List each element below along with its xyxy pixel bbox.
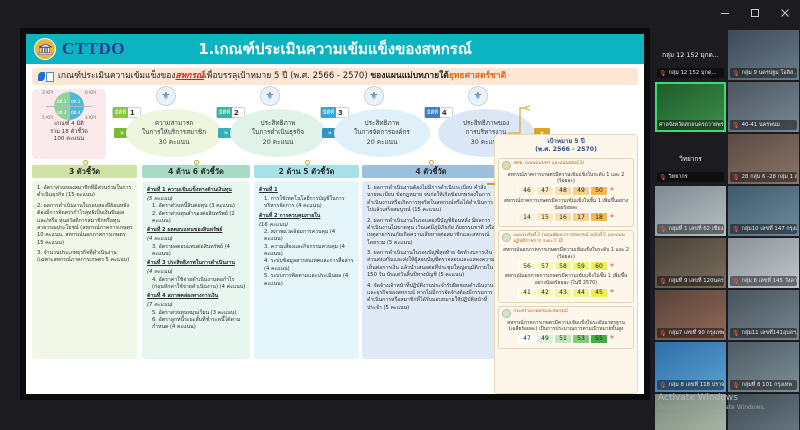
target-owner-label: สศช. (แผนแม่บทฯ และแผนย่อย13): [513, 161, 584, 167]
participant-tile[interactable]: วิทยากร🎙วิทยากร: [655, 134, 726, 184]
screen-share-stage: CTTDO 1.เกณฑ์ประเมินความเข้มแข็งของสหกรณ…: [20, 28, 650, 400]
criteria-column-2: ด้านที่ 1 ความเข้มแข็งทางด้านเงินทุน (5 …: [142, 181, 250, 359]
column-header-2: 4 ด้าน 6 ตัวชี้วัด: [142, 165, 250, 178]
criteria-column-4: 1. ผลการดำเนินงานต้องไม่มีการดำเนินระเบี…: [362, 181, 500, 359]
target-value-cell: 56: [518, 261, 536, 271]
dimension-line-1: ประสิทธิภาพ: [365, 119, 400, 128]
criteria-column-1: 1. อัตราส่วนของสมาชิกที่มีส่วนร่วมในการด…: [32, 181, 137, 359]
dimension-number: 4: [440, 109, 449, 117]
target-text-2: สหกรณ์ภาคการเกษตรมีความเข้มแข็งในชั้น 1 …: [502, 198, 630, 211]
dimension-number: 3: [336, 109, 345, 117]
kpi-label-bottom-left: 5 KPI: [42, 116, 53, 121]
kpi-label-top-right: 6 KPI: [85, 91, 96, 96]
participant-name-text: วิทยากร: [669, 173, 688, 181]
target-title-line-2: (พ.ศ. 2566 - 2570): [498, 146, 634, 154]
target-value-cell: 16: [554, 212, 572, 222]
target-panel: เป้าหมาย 5 ปี (พ.ศ. 2566 - 2570) สศช. (แ…: [494, 134, 638, 394]
target-value-cell: 15: [536, 212, 554, 222]
dimension-tag-3: มิติที่3: [320, 107, 349, 118]
kpi-quadrant-diagram: 3 KPI 6 KPI 5 KPI 4 KPI มิติ 1 มิติ 2 มิ…: [42, 91, 96, 121]
criteria-item: 1. อัตราส่วนของสมาชิกที่มีส่วนร่วมในการด…: [37, 185, 133, 200]
participant-name-badge: 🎙28 กลุ่ม 6 -28 กลุ่ม 1 ลพ...: [730, 172, 797, 182]
participant-tile[interactable]: ศาลจังหวัดสกลนครถวายพระพ...: [655, 82, 726, 132]
muted-mic-icon: 🎙: [732, 226, 740, 233]
dimension-line-2: ในการดำเนินธุรกิจ: [252, 128, 304, 137]
target-value-cell: 51: [554, 334, 572, 344]
dimension-tag-2: มิติที่2: [216, 107, 245, 118]
criteria-item: 4. ระบบข้อมูลสารสนเทศและการสื่อสาร (4 คะ…: [259, 258, 355, 273]
dimension-score: 20 คะแนน: [263, 138, 294, 147]
criteria-item: 1. ผลการดำเนินงานต้องไม่มีการดำเนินระเบี…: [367, 185, 496, 215]
target-title-line-1: เป้าหมาย 5 ปี: [498, 138, 634, 146]
moac-logo-icon: [502, 309, 511, 318]
criteria-item: 5. อัตราส่วนทุนหมุนเวียน (3 คะแนน): [147, 310, 246, 317]
subtitle-pre: เกณฑ์ประเมินความเข้มแข็งของ: [58, 71, 176, 81]
target-value-row-2: 4142434445*: [502, 288, 630, 298]
kpi-quadrant-2: มิติ 2: [71, 98, 80, 105]
participant-tile[interactable]: 🎙กลุ่ม7 เลขที่ 90 กรุงเทพฯ: [655, 290, 726, 340]
kpi-quadrant-4: มิติ 4: [71, 109, 80, 116]
target-value-cell: 49: [536, 334, 554, 344]
target-box-1: สศช. (แผนแม่บทฯ และแผนย่อย13)สหกรณ์ภาคกา…: [498, 158, 634, 227]
target-value-cell: 48: [554, 186, 572, 196]
participant-name-badge: ศาลจังหวัดสกลนครถวายพระพ...: [657, 120, 724, 130]
kpi-summary-card: 3 KPI 6 KPI 5 KPI 4 KPI มิติ 1 มิติ 2 มิ…: [32, 89, 106, 159]
dimension-bubble-2: ประสิทธิภาพในการดำเนินธุรกิจ20 คะแนน: [230, 109, 326, 157]
target-box-2: แผนระดับที่ 3 (แผนพัฒนาการสหกรณ์ ฉบับที่…: [498, 230, 634, 302]
dimension-line-1: ประสิทธิภาพของ: [463, 119, 509, 128]
participant-name-badge: 🎙กลุ่ม 9 นครปฐม โอลิส ...: [730, 68, 797, 78]
participant-name-text: กลุ่ม11 เลขที่141อุบลฯ,...: [742, 329, 797, 337]
dimension-number: 2: [232, 109, 241, 117]
participant-tile[interactable]: 🎙กลุ่ม 9 นครปฐม โอลิส ...: [728, 30, 799, 80]
garuda-emblem-icon: ⚜: [260, 86, 280, 106]
muted-mic-icon: 🎙: [732, 382, 740, 389]
window-titlebar: [0, 0, 800, 26]
close-icon[interactable]: [770, 2, 800, 24]
criteria-item: 3. อัตราผลตอบแทนต่อสินทรัพย์ (4 คะแนน): [147, 244, 246, 259]
target-value-cell: 18: [590, 212, 608, 222]
target-value-cell: 58: [554, 261, 572, 271]
participant-tile[interactable]: กลุ่ม 12 152 มุกด...🎙กลุ่ม 12 152 มุกด..…: [655, 30, 726, 80]
target-star-marker: *: [610, 262, 614, 271]
criteria-section-head: ด้านที่ 1 ความเข้มแข็งทางด้านเงินทุน: [147, 187, 246, 194]
garuda-emblem-icon: ⚜: [156, 86, 176, 106]
participant-name-badge: 🎙กลุ่ม 8 เลขที่ 118 ปราจ...: [657, 380, 724, 390]
target-value-row-1: 4749515355*: [502, 334, 630, 344]
muted-mic-icon: 🎙: [659, 70, 667, 77]
target-owner-row: แผนระดับที่ 3 (แผนพัฒนาการสหกรณ์ ฉบับที่…: [502, 233, 630, 245]
target-owner-row: กระทรวงเกษตรและสหกรณ์: [502, 309, 630, 318]
criteria-item: 2. ผลการดำเนินงานในรอบสองปีย้อนหลัง ต้อง…: [37, 203, 133, 247]
participant-tile[interactable]: 🎙28 กลุ่ม 6 -28 กลุ่ม 1 ลพ...: [728, 134, 799, 184]
kpi-label-top-left: 3 KPI: [42, 91, 53, 96]
target-text-1: สหกรณ์ภาคการเกษตรมีความเข้มแข็งในระดับ 1…: [502, 172, 630, 185]
target-value-row-2: 1415161718*: [502, 212, 630, 222]
minimize-icon[interactable]: [710, 2, 740, 24]
column-connector-node-1: [83, 160, 88, 165]
dimension-tag-1: มิติที่1: [112, 107, 141, 118]
target-value-cell: 55: [590, 334, 608, 344]
participant-name-badge: 🎙กลุ่มที่ 1 เลขที่ 62 เชียง...: [657, 224, 724, 234]
dimension-line-2: ในการจัดการองค์กร: [354, 128, 410, 137]
muted-mic-icon: 🎙: [732, 278, 740, 285]
kpi-summary-line-3: 100 คะแนน: [54, 136, 84, 144]
target-value-cell: 17: [572, 212, 590, 222]
dimension-line-1: ประสิทธิภาพ: [261, 119, 296, 128]
column-header-3: 2 ด้าน 5 ตัวชี้วัด: [254, 165, 359, 178]
participant-tile[interactable]: 🎙กลุ่ม11 เลขที่141อุบลฯ,...: [728, 290, 799, 340]
slide-header: CTTDO 1.เกณฑ์ประเมินความเข้มแข็งของสหกรณ…: [26, 34, 644, 64]
target-value-cell: 60: [590, 261, 608, 271]
participant-name-text: 40-41 นครพนม: [742, 121, 780, 129]
muted-mic-icon: 🎙: [732, 70, 740, 77]
criteria-section-score: (4 คะแนน): [147, 236, 246, 243]
column-header-4: 4 ตัวชี้วัด: [362, 165, 500, 178]
participant-name-text: กลุ่มที่ 9 เลขที่ 120นครปฐม: [669, 277, 724, 285]
dimension-score: 30 คะแนน: [159, 138, 190, 147]
participant-name-badge: 🎙กลุ่ม10 เลขที่ 147 กรุงเทพฯ: [730, 224, 797, 234]
participant-tile[interactable]: 🎙40-41 นครพนม: [728, 82, 799, 132]
participant-name-badge: 🎙40-41 นครพนม: [730, 120, 797, 130]
column-connector-node-2: [194, 160, 199, 165]
target-value-row-1: 4647484950*: [502, 186, 630, 196]
target-value-cell: 57: [536, 261, 554, 271]
target-value-row-1: 5657585960*: [502, 261, 630, 271]
criteria-section-score: (4 คะแนน): [147, 269, 246, 276]
kpi-summary-line-1: เกณฑ์ 4 มิติ: [54, 121, 84, 129]
brand-label: CTTDO: [62, 39, 125, 59]
participant-name-text: กลุ่มที่ 1 เลขที่ 62 เชียง...: [669, 225, 724, 233]
target-value-cell: 47: [518, 334, 536, 344]
dimension-card-1: ⚜มิติที่1»ความสามารถในการให้บริการสมาชิก…: [118, 87, 222, 161]
dimension-tag-label: มิติที่: [425, 107, 440, 118]
nesdc-logo-icon: [502, 161, 511, 170]
target-value-cell: 44: [572, 288, 590, 298]
participant-name-badge: 🎙วิทยากร: [657, 172, 724, 182]
slide-subtitle-bar: เกณฑ์ประเมินความเข้มแข็งของสหกรณ์เพื่อบร…: [32, 68, 638, 85]
criteria-column-3: ด้านที่ 11. การใช้เทคโนโลยีการบัญชีในการ…: [254, 181, 359, 359]
criteria-section-score: (16 คะแนน): [259, 222, 355, 229]
column-header-1: 3 ตัวชี้วัด: [32, 165, 137, 178]
participant-name-badge: 🎙กลุ่มที่ 9 เลขที่ 120นครปฐม: [657, 276, 724, 286]
criteria-item: 4. จัดจ้างเจ้าหน้าที่ปฏิบัติงานประจำรับผ…: [367, 283, 496, 313]
muted-mic-icon: 🎙: [732, 330, 740, 337]
target-value-cell: 53: [572, 334, 590, 344]
participant-rail[interactable]: กลุ่ม 12 152 มุกด...🎙กลุ่ม 12 152 มุกด..…: [652, 26, 800, 430]
criteria-item: 1. การใช้เทคโนโลยีการบัญชีในการบริหารจัด…: [259, 196, 355, 211]
dimension-line-2: ในการให้บริการสมาชิก: [142, 128, 206, 137]
target-value-cell: 41: [518, 288, 536, 298]
participant-name-text: กลุ่ม 8 เลขที่ 145 วังคาม...: [742, 277, 797, 285]
target-owner-label: แผนระดับที่ 3 (แผนพัฒนาการสหกรณ์ ฉบับที่…: [513, 233, 630, 245]
watermark-subtitle: Go to Settings to activate Windows.: [658, 404, 798, 411]
dimension-tag-label: มิติที่: [217, 107, 232, 118]
cooperative-logo-icon: [502, 233, 511, 242]
participant-name-text: กลุ่มที่ 8 101 กรุงเทพ: [742, 381, 792, 389]
participant-name-badge: 🎙กลุ่ม 12 152 มุกด...: [657, 68, 724, 78]
dimension-tag-4: มิติที่4: [424, 107, 453, 118]
target-owner-label: กระทรวงเกษตรและสหกรณ์: [513, 309, 567, 315]
participant-display-name: กลุ่ม 12 152 มุกด...: [655, 50, 726, 60]
criteria-item: 2. ผลการดำเนินงานในรอบสองปีบัญชีย้อนหลัง…: [367, 218, 496, 248]
criteria-section-head: ด้านที่ 2 การควบคุมภายใน: [259, 213, 355, 220]
criteria-item: 3. จำนวนประเภทธุรกิจที่ดำเนินงาน (เฉพาะส…: [37, 250, 133, 265]
garuda-emblem-icon: ⚜: [364, 86, 384, 106]
muted-mic-icon: 🎙: [732, 122, 740, 129]
dimension-number: 1: [128, 109, 137, 117]
dimension-bubble-1: ความสามารถในการให้บริการสมาชิก30 คะแนน: [126, 109, 222, 157]
target-star-marker: *: [610, 334, 614, 343]
muted-mic-icon: 🎙: [659, 226, 667, 233]
participant-tile[interactable]: 🎙กลุ่ม 8 เลขที่ 145 วังคาม...: [728, 238, 799, 288]
target-star-marker: *: [610, 288, 614, 297]
participant-name-badge: 🎙กลุ่ม11 เลขที่141อุบลฯ,...: [730, 328, 797, 338]
criteria-item: 1. อัตราส่วนหนี้สินต่อทุน (3 คะแนน): [147, 203, 246, 210]
target-text-1: สหกรณ์นอกภาคการเกษตรมีความเข้มแข็งในระดั…: [502, 247, 630, 260]
kpi-quadrant-1: มิติ 1: [57, 98, 66, 105]
subtitle-accent: ยุทธศาสตร์ชาติ: [449, 71, 506, 81]
participant-tile[interactable]: 🎙กลุ่มที่ 1 เลขที่ 62 เชียง...: [655, 186, 726, 236]
presentation-slide: CTTDO 1.เกณฑ์ประเมินความเข้มแข็งของสหกรณ…: [26, 34, 644, 394]
subtitle-highlight: สหกรณ์: [176, 71, 204, 81]
dimension-line-1: ความสามารถ: [155, 119, 193, 128]
criteria-item: 3. ความเสี่ยงและกิจกรรมควบคุม (4 คะแนน): [259, 244, 355, 259]
subtitle-bold: ของแผนแม่บทภายใต้: [370, 71, 448, 81]
maximize-icon[interactable]: [740, 2, 770, 24]
kpi-label-bottom-right: 4 KPI: [85, 116, 96, 121]
criteria-section-head: ด้านที่ 2 ผลตอบแทนของสินทรัพย์: [147, 227, 246, 234]
kpi-summary-line-2: รวม 18 ตัวชี้วัด: [50, 129, 88, 137]
target-value-cell: 50: [590, 186, 608, 196]
target-star-marker: *: [610, 213, 614, 222]
participant-display-name: วิทยากร: [655, 154, 726, 164]
dimension-card-2: ⚜มิติที่2»ประสิทธิภาพในการดำเนินธุรกิจ20…: [222, 87, 326, 161]
criteria-section-head: ด้านที่ 1: [259, 187, 355, 194]
participant-name-badge: 🎙กลุ่ม 8 เลขที่ 145 วังคาม...: [730, 276, 797, 286]
dimension-tag-label: มิติที่: [113, 107, 128, 118]
activate-windows-watermark: Activate Windows Go to Settings to activ…: [658, 393, 798, 411]
participant-tile[interactable]: 🎙กลุ่มที่ 9 เลขที่ 120นครปฐม: [655, 238, 726, 288]
target-value-cell: 42: [536, 288, 554, 298]
criteria-item: 3. ผลการดำเนินงานในรอบบัญชีสุดท้าย จัดทำ…: [367, 250, 496, 280]
target-value-cell: 43: [554, 288, 572, 298]
criteria-section-head: ด้านที่ 3 ประสิทธิภาพในการดำเนินงาน: [147, 260, 246, 267]
garuda-emblem-icon: ⚜: [468, 86, 488, 106]
column-connector-node-4: [429, 160, 434, 165]
target-value-cell: 47: [536, 186, 554, 196]
criteria-section-head: ด้านที่ 4 สภาพคล่องทางการเงิน: [147, 293, 246, 300]
participant-name-text: ศาลจังหวัดสกลนครถวายพระพ...: [659, 121, 724, 129]
target-box-3: กระทรวงเกษตรและสหกรณ์สหกรณ์ภาคการเกษตรมี…: [498, 306, 634, 349]
muted-mic-icon: 🎙: [659, 382, 667, 389]
dimension-tag-label: มิติที่: [321, 107, 336, 118]
target-value-cell: 14: [518, 212, 536, 222]
criteria-item: 2. อัตราส่วนทุนสำรองต่อสินทรัพย์ (2 คะแน…: [147, 211, 246, 226]
muted-mic-icon: 🎙: [659, 174, 667, 181]
participant-name-badge: 🎙กลุ่มที่ 8 101 กรุงเทพ: [730, 380, 797, 390]
target-value-cell: 59: [572, 261, 590, 271]
target-owner-row: สศช. (แผนแม่บทฯ และแผนย่อย13): [502, 161, 630, 170]
participant-name-badge: 🎙กลุ่ม7 เลขที่ 90 กรุงเทพฯ: [657, 328, 724, 338]
participant-name-text: กลุ่ม7 เลขที่ 90 กรุงเทพฯ: [669, 329, 724, 337]
participant-name-text: กลุ่ม10 เลขที่ 147 กรุงเทพฯ: [742, 225, 797, 233]
criteria-item: 4. อัตราค่าใช้จ่ายดำเนินงานต่อกำไร (ก่อน…: [147, 277, 246, 292]
subtitle-mid: เพื่อบรรลุเป้าหมาย 5 ปี (พ.ศ. 2566 - 257…: [204, 71, 370, 81]
criteria-section-score: (7 คะแนน): [147, 302, 246, 309]
participant-name-text: กลุ่ม 12 152 มุกด...: [669, 69, 717, 77]
participant-name-text: กลุ่ม 9 นครปฐม โอลิส ...: [742, 69, 797, 77]
muted-mic-icon: 🎙: [659, 278, 667, 285]
target-star-marker: *: [610, 186, 614, 195]
criteria-item: 5. ระบบการติดตามและประเมินผล (4 คะแนน): [259, 273, 355, 288]
bank-building-icon: [34, 38, 56, 60]
target-value-cell: 45: [590, 288, 608, 298]
muted-mic-icon: 🎙: [732, 174, 740, 181]
participant-name-text: 28 กลุ่ม 6 -28 กลุ่ม 1 ลพ...: [742, 173, 797, 181]
dimension-card-3: ⚜มิติที่3»ประสิทธิภาพในการจัดการองค์กร20…: [326, 87, 430, 161]
kpi-quadrant-3: มิติ 3: [57, 109, 66, 116]
column-connector-node-3: [305, 160, 310, 165]
criteria-item: 2. สภาพแวดล้อมการควบคุม (4 คะแนน): [259, 229, 355, 244]
participant-tile[interactable]: 🎙กลุ่มที่ 8 101 กรุงเทพ: [728, 342, 799, 392]
flow-connector: [506, 105, 530, 135]
muted-mic-icon: 🎙: [659, 330, 667, 337]
criteria-item: 6. อัตราลูกหนี้ระยะสั้นที่ชำระหนี้ได้ตาม…: [147, 317, 246, 332]
watermark-title: Activate Windows: [658, 393, 798, 403]
participant-tile[interactable]: 🎙กลุ่ม10 เลขที่ 147 กรุงเทพฯ: [728, 186, 799, 236]
target-value-cell: 49: [572, 186, 590, 196]
app-window: CTTDO 1.เกณฑ์ประเมินความเข้มแข็งของสหกรณ…: [0, 0, 800, 430]
target-value-cell: 46: [518, 186, 536, 196]
target-text-2: สหกรณ์นอกภาคการเกษตรมีความเข้มแข็งในชั้น…: [502, 273, 630, 286]
participant-tile[interactable]: 🎙กลุ่ม 8 เลขที่ 118 ปราจ...: [655, 342, 726, 392]
target-text-1: สหกรณ์ภาคการเกษตรมีความเข้มแข็งในระดับมา…: [502, 320, 630, 333]
dimension-bubble-3: ประสิทธิภาพในการจัดการองค์กร20 คะแนน: [334, 109, 430, 157]
dimension-score: 20 คะแนน: [367, 138, 398, 147]
participant-name-text: กลุ่ม 8 เลขที่ 118 ปราจ...: [669, 381, 724, 389]
checklist-icon: [38, 71, 54, 82]
